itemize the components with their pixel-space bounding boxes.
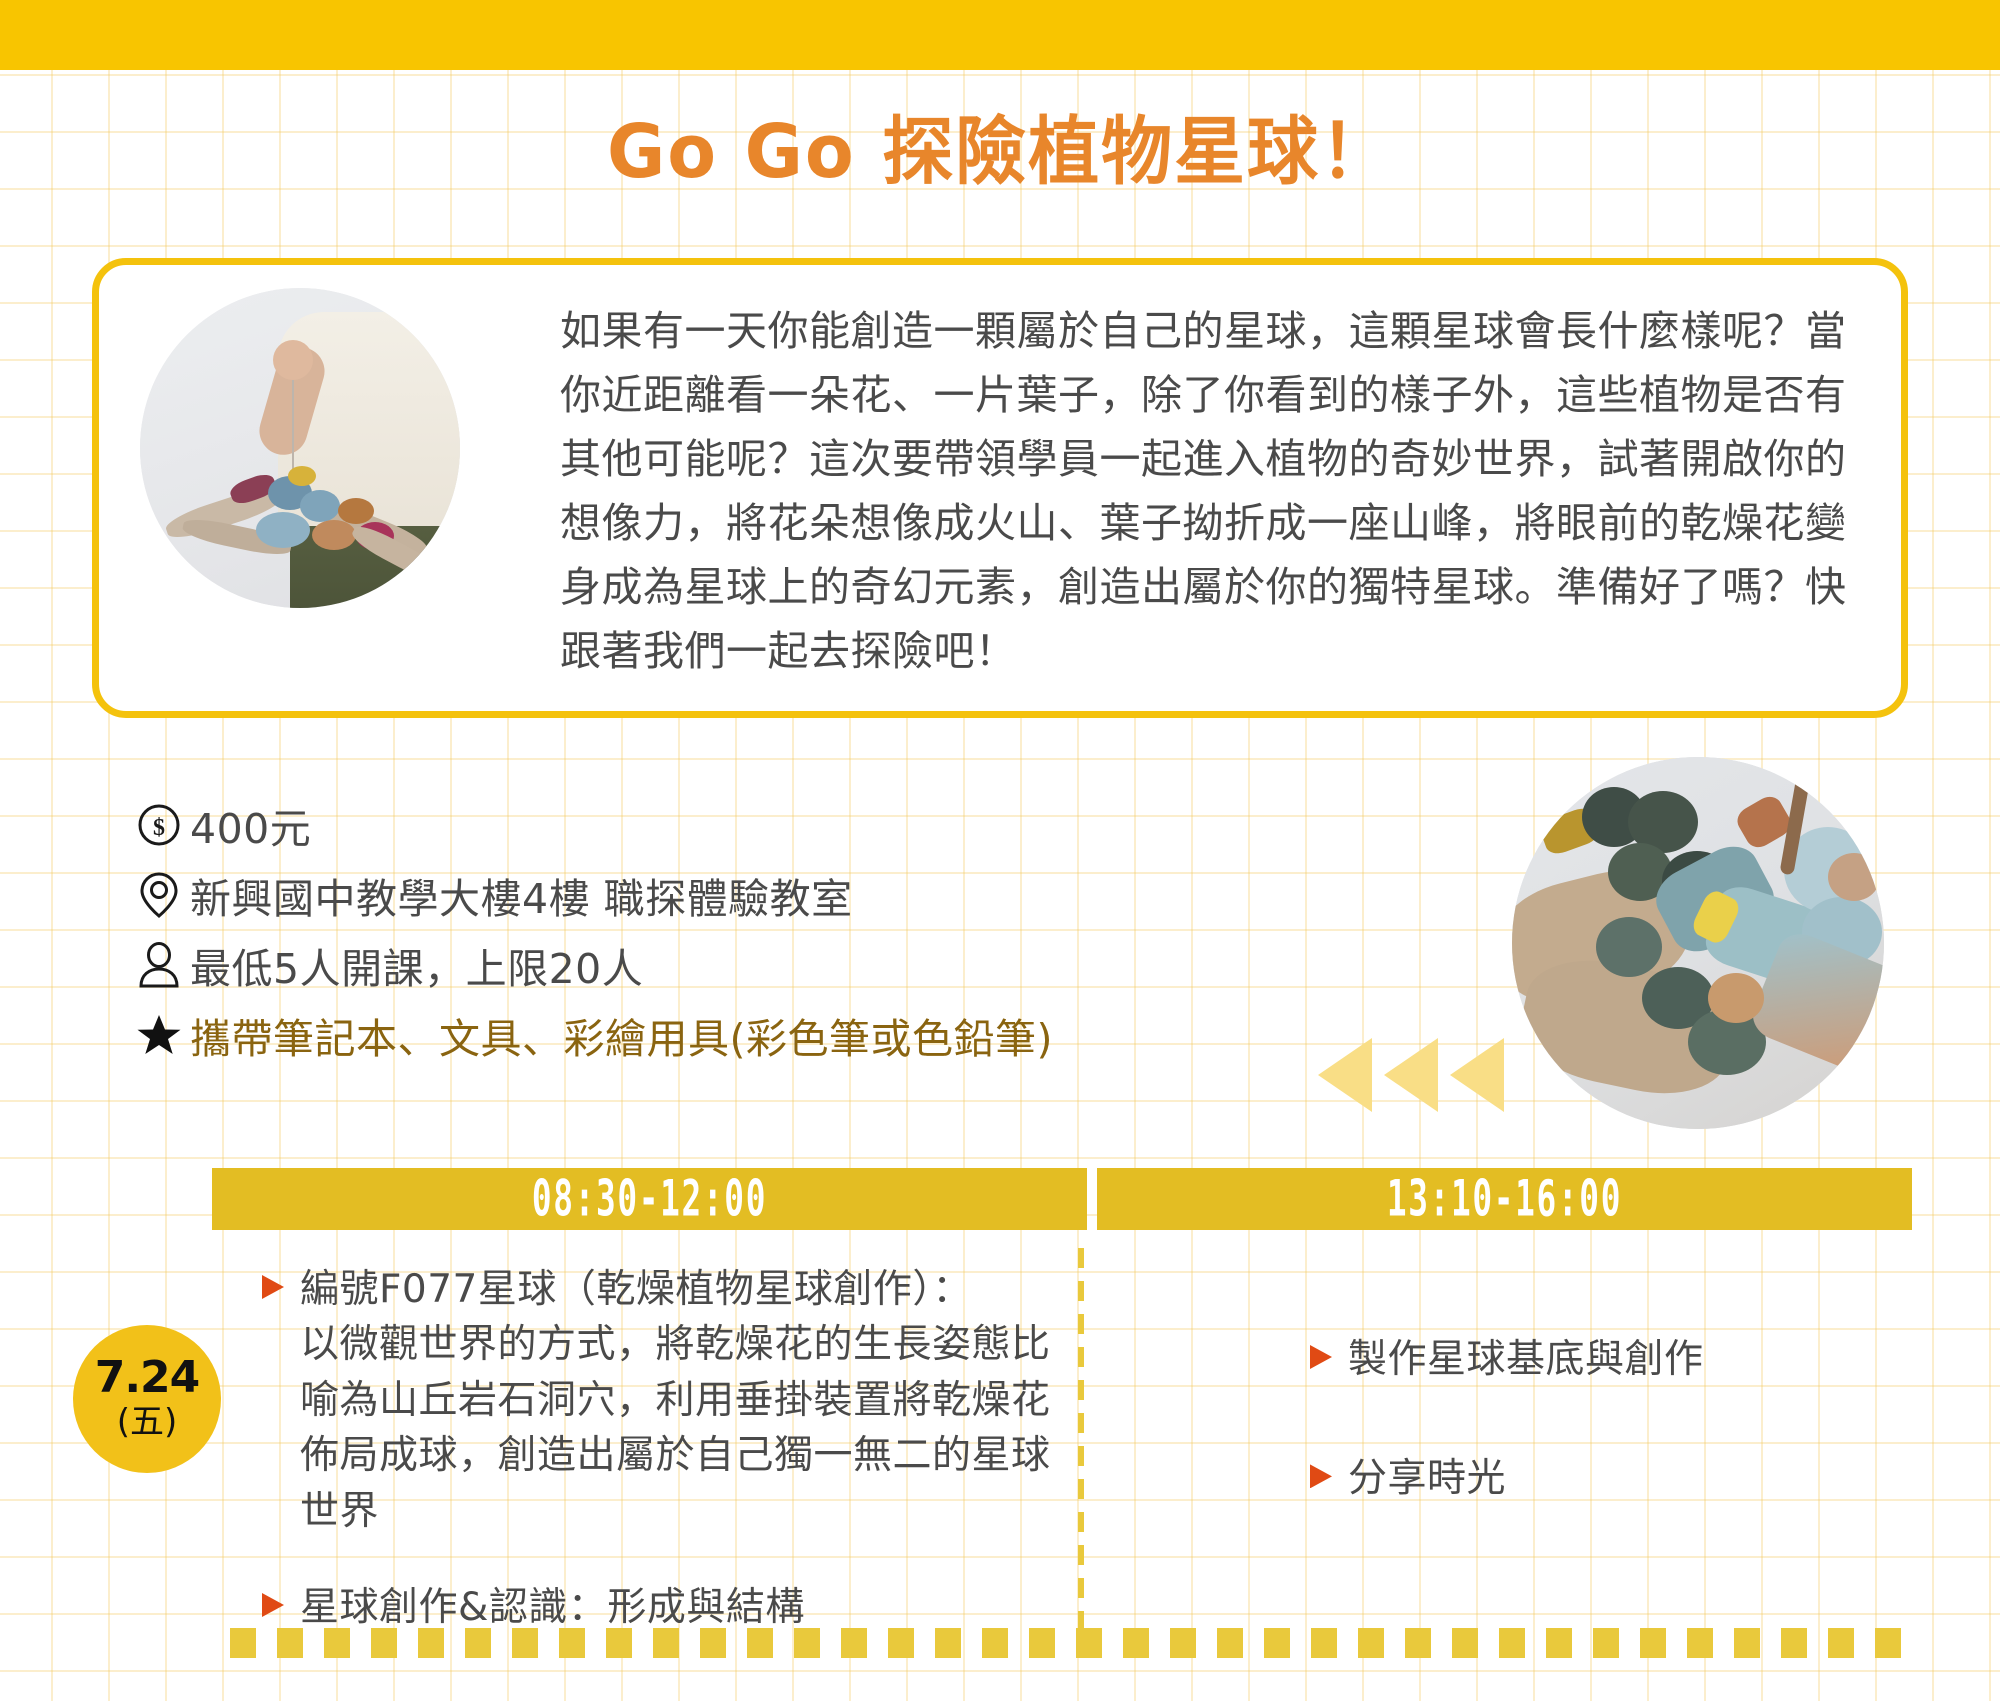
triangle-bullet-icon bbox=[1310, 1345, 1332, 1369]
page-title: Go Go 探險植物星球！ bbox=[40, 92, 1960, 199]
location-pin-icon bbox=[128, 871, 190, 919]
schedule-afternoon-item-0: 製作星球基底與創作 bbox=[1348, 1332, 1704, 1387]
flower-photo bbox=[1512, 757, 1884, 1129]
schedule-morning-column: 編號F077星球（乾燥植物星球創作）： 以微觀世界的方式，將乾燥花的生長姿態比喻… bbox=[262, 1262, 1052, 1567]
intro-photo bbox=[140, 288, 460, 608]
top-yellow-band bbox=[0, 0, 2000, 70]
dried-flower-bouquet bbox=[160, 464, 450, 608]
triangle-bullet-icon bbox=[262, 1275, 284, 1299]
date-badge: 7.24 (五) bbox=[73, 1325, 221, 1473]
info-supplies-text: 攜帶筆記本、文具、彩繪用具(彩色筆或色鉛筆) bbox=[190, 1005, 1053, 1065]
schedule-column-divider bbox=[1078, 1248, 1084, 1638]
intro-paragraph: 如果有一天你能創造一顆屬於自己的星球，這顆星球會長什麼樣呢？當你近距離看一朵花、… bbox=[560, 300, 1862, 684]
play-triangle-icon bbox=[1450, 1038, 1504, 1112]
date-weekday: (五) bbox=[117, 1404, 178, 1441]
info-list: $ 400元 新興國中教學大樓4樓 職探體驗教室 最低5人開課，上限20人 bbox=[128, 790, 1308, 1070]
date-number: 7.24 bbox=[95, 1356, 200, 1400]
info-capacity-text: 最低5人開課，上限20人 bbox=[190, 935, 643, 995]
schedule-time-header: 08:30-12:00 13:10-16:00 bbox=[212, 1168, 1912, 1230]
schedule-morning-item-0: 編號F077星球（乾燥植物星球創作）： 以微觀世界的方式，將乾燥花的生長姿態比喻… bbox=[300, 1262, 1052, 1539]
time-slot-afternoon-label: 13:10-16:00 bbox=[1387, 1170, 1622, 1228]
play-triangle-icon bbox=[1384, 1038, 1438, 1112]
schedule-afternoon-item-1: 分享時光 bbox=[1348, 1451, 1506, 1506]
person-icon bbox=[128, 942, 190, 988]
svg-text:$: $ bbox=[153, 815, 165, 841]
time-slot-afternoon: 13:10-16:00 bbox=[1097, 1168, 1912, 1230]
triangle-bullet-icon bbox=[1310, 1464, 1332, 1488]
time-slot-morning: 08:30-12:00 bbox=[212, 1168, 1087, 1230]
list-item: 分享時光 bbox=[1310, 1451, 1870, 1506]
time-slot-morning-label: 08:30-12:00 bbox=[532, 1170, 767, 1228]
info-location-text: 新興國中教學大樓4樓 職探體驗教室 bbox=[190, 865, 853, 925]
info-row-price: $ 400元 bbox=[128, 790, 1308, 860]
bottom-dashed-divider bbox=[230, 1628, 1910, 1658]
list-item: 編號F077星球（乾燥植物星球創作）： 以微觀世界的方式，將乾燥花的生長姿態比喻… bbox=[262, 1262, 1052, 1539]
info-row-capacity: 最低5人開課，上限20人 bbox=[128, 930, 1308, 1000]
arrow-group bbox=[1318, 1038, 1508, 1114]
dollar-circle-icon: $ bbox=[128, 803, 190, 847]
schedule-afternoon-column: 製作星球基底與創作 分享時光 bbox=[1310, 1332, 1870, 1535]
info-price-text: 400元 bbox=[190, 795, 311, 855]
list-item: 製作星球基底與創作 bbox=[1310, 1332, 1870, 1387]
play-triangle-icon bbox=[1318, 1038, 1372, 1112]
triangle-bullet-icon bbox=[262, 1593, 284, 1617]
star-icon bbox=[128, 1012, 190, 1058]
info-row-location: 新興國中教學大樓4樓 職探體驗教室 bbox=[128, 860, 1308, 930]
info-row-supplies: 攜帶筆記本、文具、彩繪用具(彩色筆或色鉛筆) bbox=[128, 1000, 1308, 1070]
